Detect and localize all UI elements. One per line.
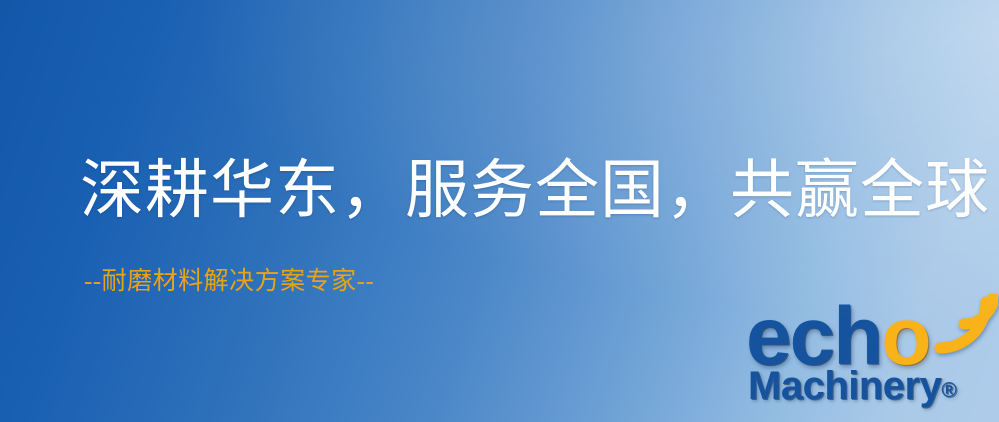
echo-machinery-logo[interactable]: echo Machinery®	[746, 300, 999, 422]
echo-signal-waves-icon	[932, 294, 998, 356]
promo-banner: 深耕华东，服务全国，共赢全球 --耐磨材料解决方案专家-- echo Machi…	[0, 0, 999, 422]
banner-headline: 深耕华东，服务全国，共赢全球	[80, 158, 990, 223]
logo-subtext: Machinery®	[748, 366, 957, 406]
registered-trademark-icon: ®	[941, 379, 956, 402]
logo-subtext-label: Machinery	[748, 364, 941, 408]
banner-subtitle: --耐磨材料解决方案专家--	[84, 268, 374, 296]
